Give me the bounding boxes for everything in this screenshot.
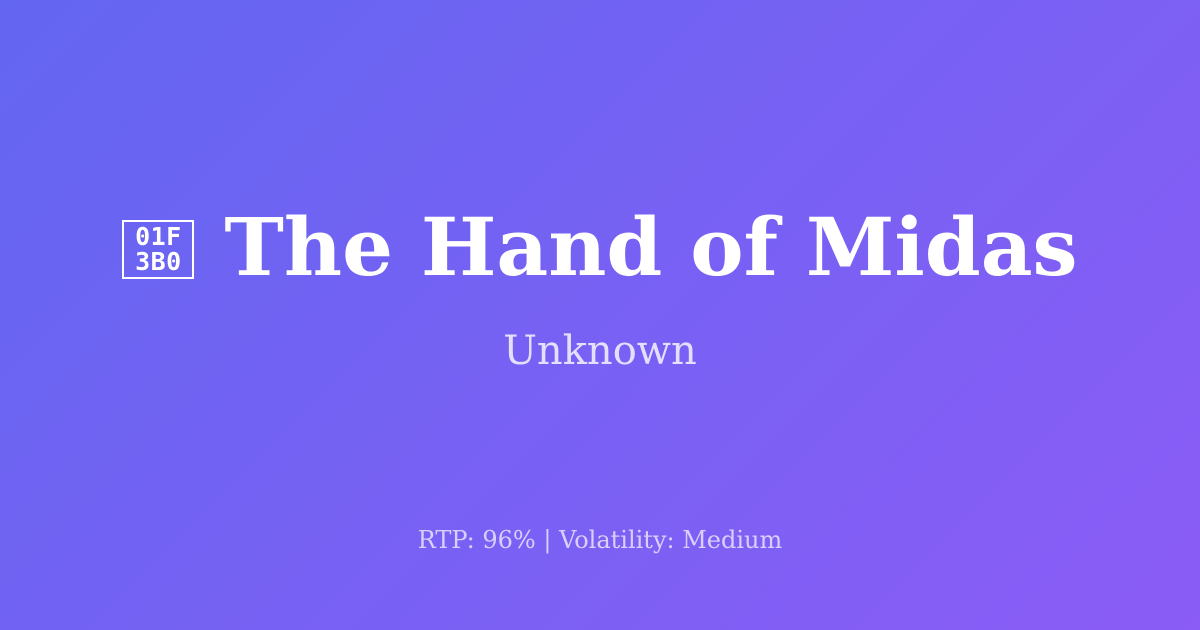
og-card: 01F 3B0 The Hand of Midas Unknown RTP: 9…: [0, 0, 1200, 630]
title-row: 01F 3B0 The Hand of Midas: [122, 207, 1077, 287]
page-title: The Hand of Midas: [224, 207, 1077, 287]
codepoint-lower: 3B0: [135, 249, 182, 274]
slot-machine-icon: 01F 3B0: [122, 220, 194, 279]
game-meta-line: RTP: 96% | Volatility: Medium: [0, 528, 1200, 552]
codepoint-upper: 01F: [135, 224, 182, 249]
subtitle: Unknown: [503, 331, 697, 371]
hero-block: 01F 3B0 The Hand of Midas Unknown: [0, 207, 1200, 371]
